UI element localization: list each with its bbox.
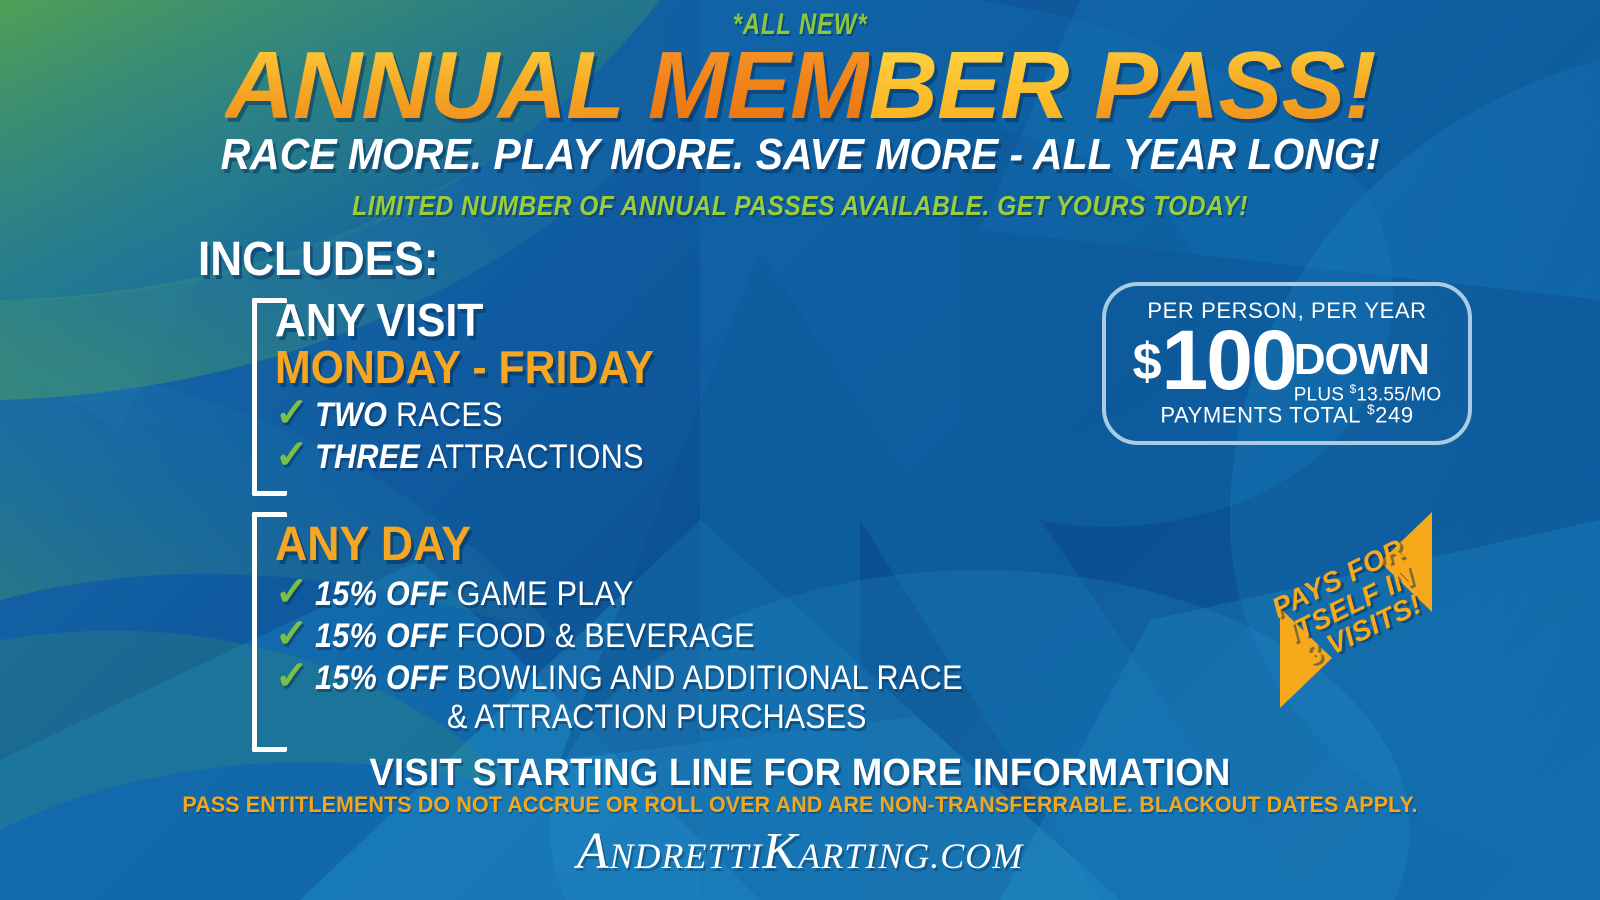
includes-label: INCLUDES: <box>198 232 438 287</box>
disclaimer-text: PASS ENTITLEMENTS DO NOT ACCRUE OR ROLL … <box>24 792 1576 818</box>
payments-total: PAYMENTS TOTAL $249 <box>1160 402 1413 428</box>
bullet-emphasis: 15% OFF <box>315 575 448 613</box>
down-column: DOWN PLUS $13.55/MO <box>1294 340 1442 404</box>
pays-for-itself-badge: PAYS FOR ITSELF IN 3 VISITS! <box>1262 510 1442 710</box>
list-item: ✓ 15% OFF GAME PLAY <box>275 574 1034 614</box>
bullet-text: 15% OFF BOWLING AND ADDITIONAL RACE <box>315 659 963 698</box>
title-part-3: BER <box>869 32 1094 139</box>
include-group-anyday: ANY DAY ✓ 15% OFF GAME PLAY ✓ 15% OFF FO… <box>275 520 1034 737</box>
bullet-emphasis: 15% OFF <box>315 617 448 655</box>
price-row: $ 100 DOWN PLUS $13.55/MO <box>1133 322 1442 404</box>
tagline: RACE MORE. PLAY MORE. SAVE MORE - ALL YE… <box>56 130 1544 180</box>
title-part-2: MEM <box>648 32 869 139</box>
bullet-text: 15% OFF GAME PLAY <box>315 575 634 614</box>
bullet-rest: BOWLING AND ADDITIONAL RACE <box>447 659 962 697</box>
total-amount: 249 <box>1375 403 1414 428</box>
bullet-continuation: & ATTRACTION PURCHASES <box>447 698 975 737</box>
total-currency: $ <box>1367 402 1375 417</box>
check-icon: ✓ <box>275 572 309 612</box>
monthly-note: PLUS $13.55/MO <box>1294 384 1442 404</box>
promo-banner: *ALL NEW* ANNUAL MEMBER PASS! RACE MORE.… <box>0 0 1600 900</box>
check-icon: ✓ <box>275 435 309 475</box>
subtagline: LIMITED NUMBER OF ANNUAL PASSES AVAILABL… <box>96 190 1504 222</box>
include-group-weekday: ANY VISIT MONDAY - FRIDAY ✓ TWO RACES ✓ … <box>275 298 682 477</box>
price-box: PER PERSON, PER YEAR $ 100 DOWN PLUS $13… <box>1102 282 1472 445</box>
group1-heading-white: ANY VISIT <box>275 298 654 343</box>
page-title: ANNUAL MEMBER PASS! <box>0 38 1600 134</box>
site-arting: ARTING <box>798 836 930 876</box>
badge-text: PAYS FOR ITSELF IN 3 VISITS! <box>1247 525 1455 685</box>
bullet-text: TWO RACES <box>315 396 503 435</box>
group2-heading-orange: ANY DAY <box>275 520 981 570</box>
price-amount: 100 <box>1162 322 1296 399</box>
down-label: DOWN <box>1294 340 1442 380</box>
total-prefix: PAYMENTS TOTAL <box>1160 403 1367 428</box>
site-ndretti: NDRETTI <box>610 836 763 876</box>
bullet-rest: FOOD & BEVERAGE <box>447 617 754 655</box>
check-icon: ✓ <box>275 614 309 654</box>
site-a: A <box>577 823 610 880</box>
title-part-4: PASS! <box>1094 32 1375 139</box>
bullet-emphasis: TWO <box>315 396 387 434</box>
bullet-rest: GAME PLAY <box>447 575 633 613</box>
visit-cta: VISIT STARTING LINE FOR MORE INFORMATION <box>32 752 1568 795</box>
site-k: K <box>763 823 799 880</box>
website-wordmark[interactable]: ANDRETTIKARTING.COM <box>0 822 1600 881</box>
title-part-1: ANNUAL <box>225 32 648 139</box>
list-item: ✓ 15% OFF FOOD & BEVERAGE <box>275 616 1034 656</box>
check-icon: ✓ <box>275 656 309 696</box>
bullet-rest: RACES <box>387 396 503 434</box>
bullet-rest: ATTRACTIONS <box>420 438 644 476</box>
list-item: ✓ THREE ATTRACTIONS <box>275 437 682 477</box>
site-dotcom: .COM <box>930 836 1023 876</box>
bullet-text: 15% OFF FOOD & BEVERAGE <box>315 617 755 656</box>
bullet-emphasis: THREE <box>315 438 420 476</box>
currency-symbol: $ <box>1133 336 1162 388</box>
list-item: ✓ 15% OFF BOWLING AND ADDITIONAL RACE <box>275 658 1034 698</box>
check-icon: ✓ <box>275 393 309 433</box>
group2-bullets: ✓ 15% OFF GAME PLAY ✓ 15% OFF FOOD & BEV… <box>275 574 1034 737</box>
group1-heading-orange: MONDAY - FRIDAY <box>275 343 654 391</box>
bullet-text: THREE ATTRACTIONS <box>315 438 644 477</box>
bullet-emphasis: 15% OFF <box>315 659 448 697</box>
list-item: ✓ TWO RACES <box>275 395 682 435</box>
group1-bullets: ✓ TWO RACES ✓ THREE ATTRACTIONS <box>275 395 682 477</box>
